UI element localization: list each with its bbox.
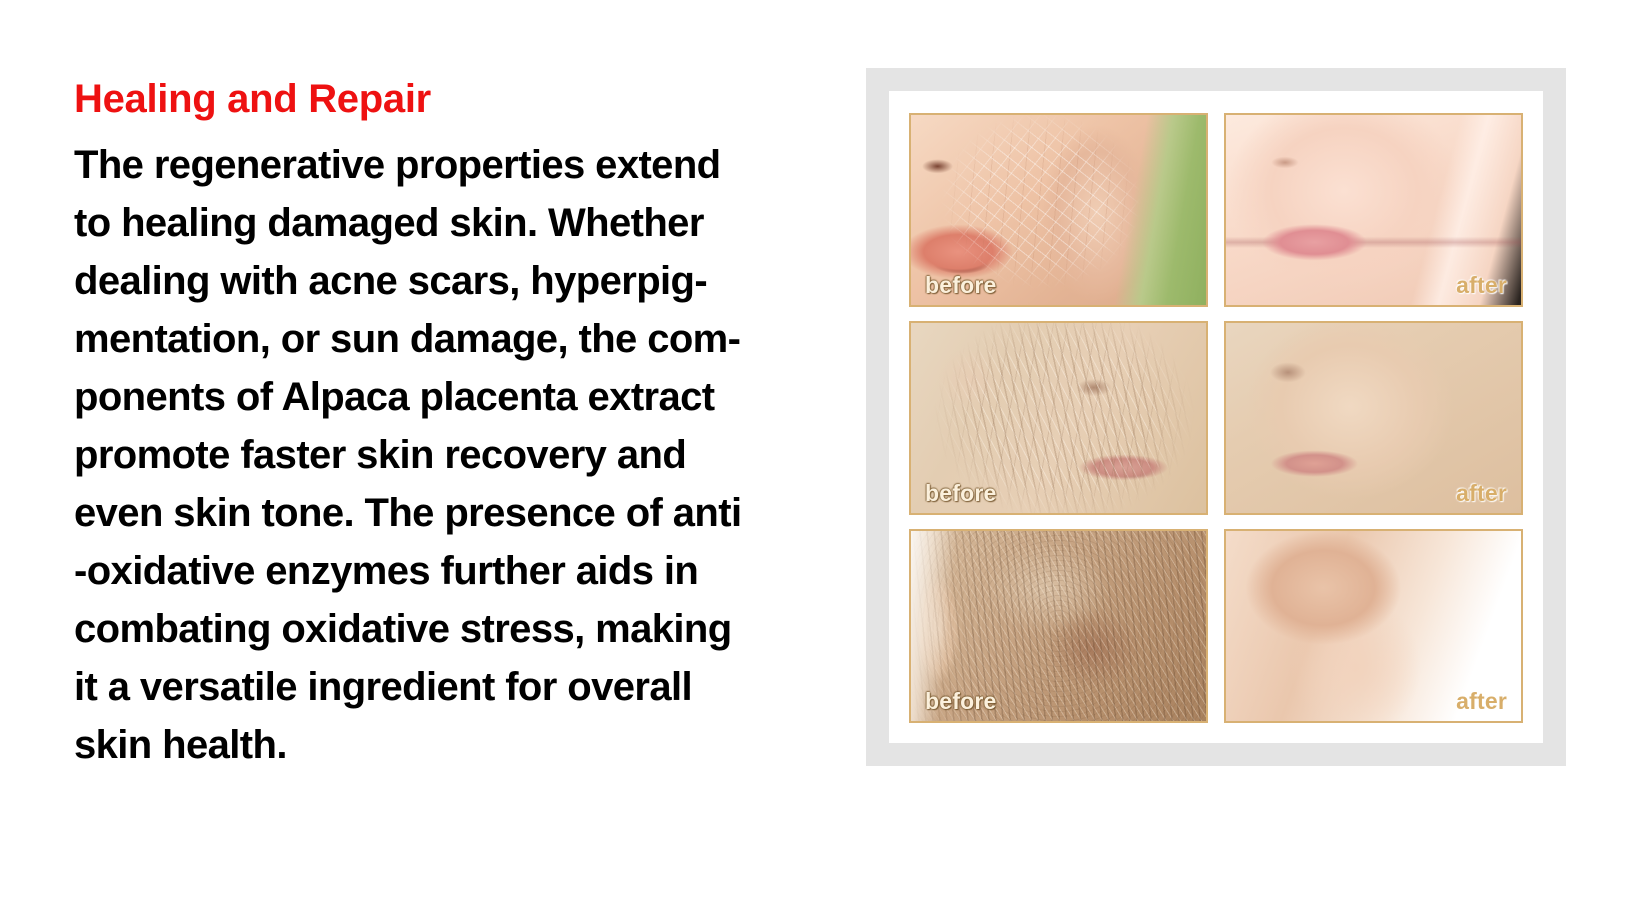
caption-before: before — [925, 690, 997, 713]
caption-before: before — [925, 274, 997, 297]
image-frame-mat: before after before after before after — [889, 91, 1543, 743]
before-after-tile: before — [909, 529, 1208, 723]
body-line: mentation, or sun damage, the com- — [74, 310, 864, 368]
caption-after: after — [1456, 274, 1507, 297]
image-frame: before after before after before after — [866, 68, 1566, 766]
before-after-tile: before — [909, 321, 1208, 515]
body-line: skin health. — [74, 716, 864, 774]
body-line: -oxidative enzymes further aids in — [74, 542, 864, 600]
body-line: promote faster skin recovery and — [74, 426, 864, 484]
body-line: dealing with acne scars, hyperpig- — [74, 252, 864, 310]
body-line: it a versatile ingredient for overall — [74, 658, 864, 716]
body-paragraph: The regenerative properties extend to he… — [74, 136, 864, 774]
body-line: ponents of Alpaca placenta extract — [74, 368, 864, 426]
before-after-grid: before after before after before after — [909, 113, 1523, 723]
body-line: combating oxidative stress, making — [74, 600, 864, 658]
before-after-tile: after — [1224, 529, 1523, 723]
body-line: The regenerative properties extend — [74, 136, 864, 194]
body-line: even skin tone. The presence of anti — [74, 484, 864, 542]
before-after-tile: after — [1224, 321, 1523, 515]
caption-after: after — [1456, 690, 1507, 713]
text-column: Healing and Repair The regenerative prop… — [74, 76, 864, 774]
page-title: Healing and Repair — [74, 76, 864, 122]
body-line: to healing damaged skin. Whether — [74, 194, 864, 252]
caption-after: after — [1456, 482, 1507, 505]
before-after-tile: after — [1224, 113, 1523, 307]
before-after-tile: before — [909, 113, 1208, 307]
caption-before: before — [925, 482, 997, 505]
